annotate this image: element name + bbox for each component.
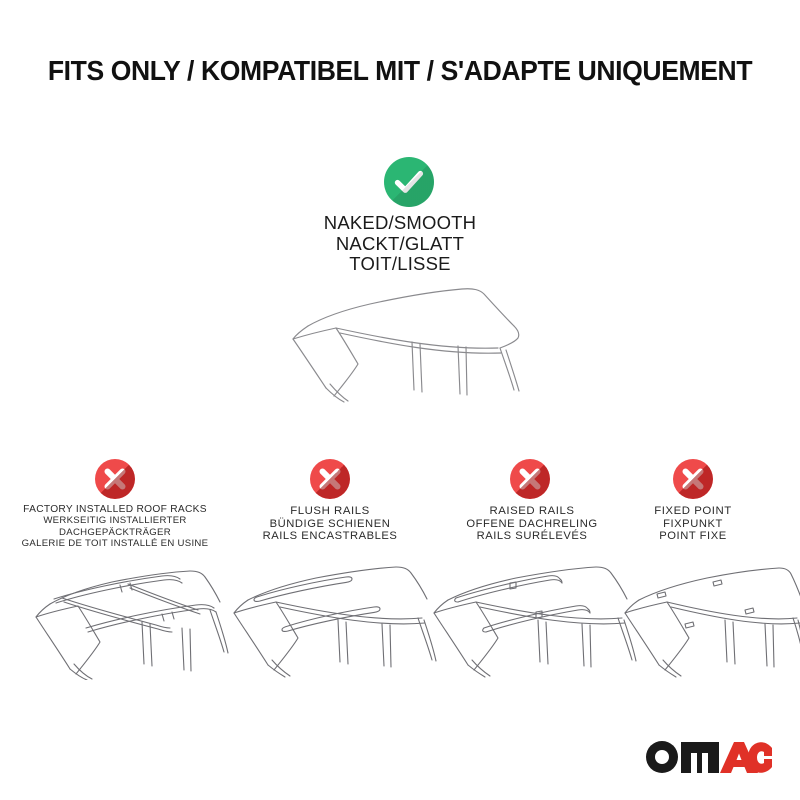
x-circle-icon-raised-rails xyxy=(510,459,550,499)
car-roof-naked-icon xyxy=(262,278,562,403)
label-line-3: RAILS ENCASTRABLES xyxy=(234,530,426,543)
compatible-label-line-1: NAKED/SMOOTH xyxy=(250,213,550,234)
label-line-1: FIXED POINT xyxy=(608,505,778,518)
incompatible-label-raised-rails: RAISED RAILS OFFENE DACHRELING RAILS SUR… xyxy=(436,505,628,543)
label-line-1: FLUSH RAILS xyxy=(234,505,426,518)
incompatible-label-fixed-point: FIXED POINT FIXPUNKT POINT FIXE xyxy=(608,505,778,543)
compatible-label-line-2: NACKT/GLATT xyxy=(250,234,550,255)
label-line-3: DACHGEPÄCKTRÄGER xyxy=(0,527,230,538)
incompatible-label-flush-rails: FLUSH RAILS BÜNDIGE SCHIENEN RAILS ENCAS… xyxy=(234,505,426,543)
car-roof-fixed-point-icon xyxy=(613,552,800,680)
compatible-label: NAKED/SMOOTH NACKT/GLATT TOIT/LISSE xyxy=(250,213,550,275)
label-line-3: RAILS SURÉLEVÉS xyxy=(436,530,628,543)
x-circle-icon-flush-rails xyxy=(310,459,350,499)
compatible-label-line-3: TOIT/LISSE xyxy=(250,254,550,275)
label-line-2: BÜNDIGE SCHIENEN xyxy=(234,518,426,531)
label-line-4: GALERIE DE TOIT INSTALLÉ EN USINE xyxy=(0,538,230,549)
car-roof-raised-rails-icon xyxy=(426,552,640,680)
label-line-1: RAISED RAILS xyxy=(436,505,628,518)
fitment-guide-page: FITS ONLY / KOMPATIBEL MIT / S'ADAPTE UN… xyxy=(0,0,800,800)
label-line-2: FIXPUNKT xyxy=(608,518,778,531)
label-line-1: FACTORY INSTALLED ROOF RACKS xyxy=(0,504,230,515)
car-roof-factory-rack-icon xyxy=(12,552,230,680)
page-title: FITS ONLY / KOMPATIBEL MIT / S'ADAPTE UN… xyxy=(14,55,786,87)
omac-logo xyxy=(644,736,772,776)
check-circle-icon xyxy=(384,157,434,207)
x-circle-icon-fixed-point xyxy=(673,459,713,499)
label-line-2: OFFENE DACHRELING xyxy=(436,518,628,531)
x-circle-icon-factory-rack xyxy=(95,459,135,499)
label-line-3: POINT FIXE xyxy=(608,530,778,543)
incompatible-label-factory-rack: FACTORY INSTALLED ROOF RACKS WERKSEITIG … xyxy=(0,504,230,550)
label-line-2: WERKSEITIG INSTALLIERTER xyxy=(0,515,230,526)
car-roof-flush-rails-icon xyxy=(226,552,440,680)
